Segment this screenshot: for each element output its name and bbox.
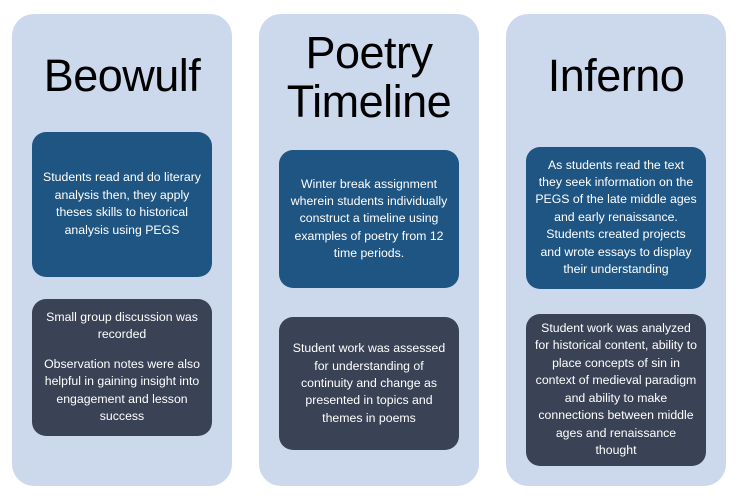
card-paragraph: Student work was assessed for understand… bbox=[288, 340, 450, 427]
assessment-card-inferno[interactable]: Student work was analyzed for historical… bbox=[526, 314, 706, 466]
assessment-card-beowulf[interactable]: Small group discussion was recorded Obse… bbox=[32, 299, 212, 436]
column-title-beowulf: Beowulf bbox=[12, 52, 232, 101]
assessment-card-poetry-timeline[interactable]: Student work was assessed for understand… bbox=[279, 317, 459, 450]
slide-canvas: Beowulf Students read and do literary an… bbox=[0, 0, 738, 500]
card-paragraph: Small group discussion was recorded bbox=[41, 309, 203, 344]
activity-card-inferno[interactable]: As students read the text they seek info… bbox=[526, 147, 706, 289]
card-paragraph: As students read the text they seek info… bbox=[535, 157, 697, 279]
column-poetry-timeline[interactable]: Poetry Timeline Winter break assignment … bbox=[259, 14, 479, 486]
card-paragraph: Winter break assignment wherein students… bbox=[288, 176, 450, 263]
card-paragraph: Student work was analyzed for historical… bbox=[535, 320, 697, 460]
column-group: Beowulf Students read and do literary an… bbox=[12, 14, 726, 486]
column-beowulf[interactable]: Beowulf Students read and do literary an… bbox=[12, 14, 232, 486]
card-paragraph: Students read and do literary analysis t… bbox=[41, 169, 203, 239]
activity-card-poetry-timeline[interactable]: Winter break assignment wherein students… bbox=[279, 150, 459, 288]
activity-card-beowulf[interactable]: Students read and do literary analysis t… bbox=[32, 132, 212, 277]
card-paragraph: Observation notes were also helpful in g… bbox=[41, 356, 203, 426]
column-title-inferno: Inferno bbox=[506, 52, 726, 101]
column-inferno[interactable]: Inferno As students read the text they s… bbox=[506, 14, 726, 486]
column-title-poetry-timeline: Poetry Timeline bbox=[259, 29, 479, 126]
